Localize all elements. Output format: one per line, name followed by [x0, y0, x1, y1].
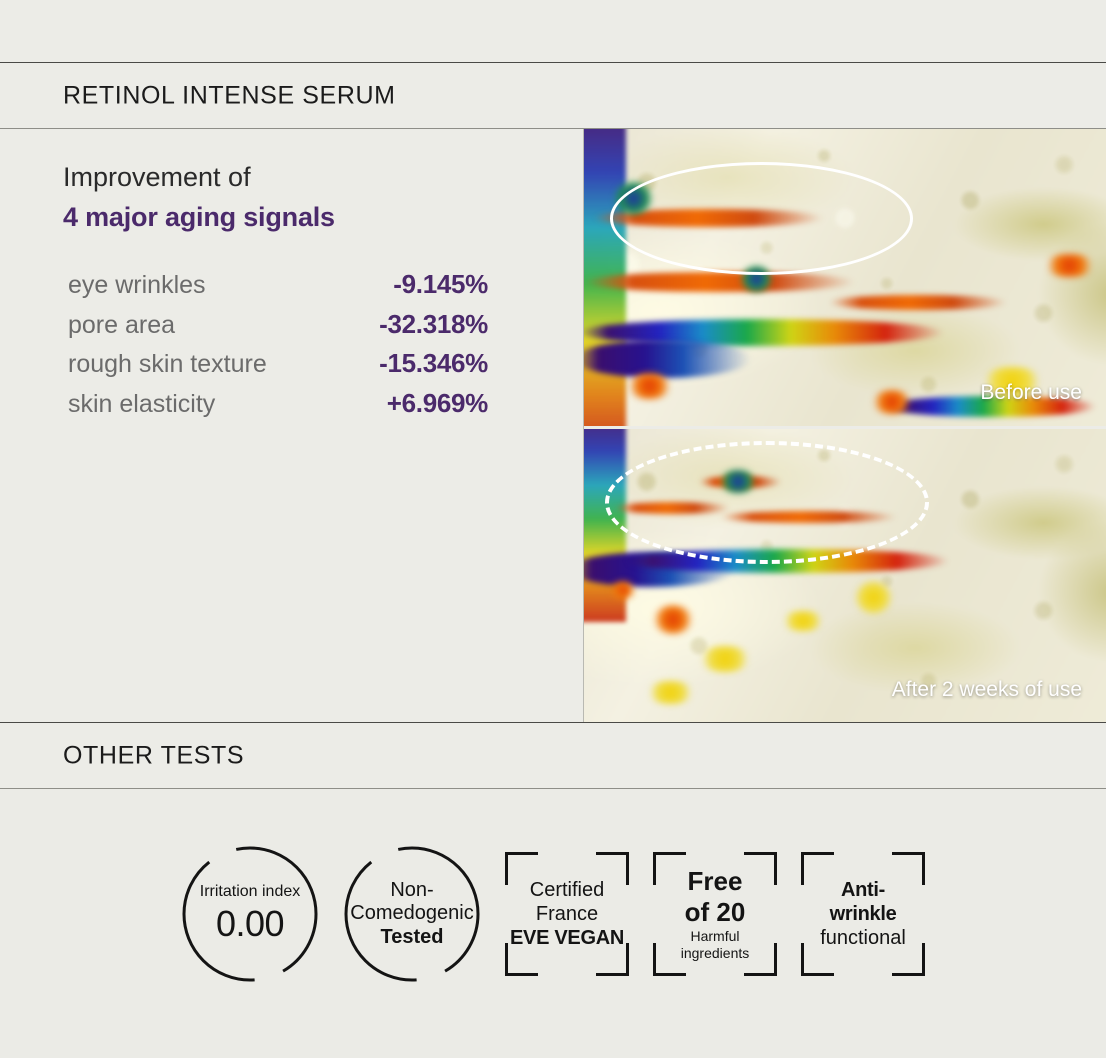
other-tests-title: OTHER TESTS: [63, 741, 244, 770]
before-highlight-ellipse: [610, 162, 913, 275]
lede-line-2: 4 major aging signals: [63, 198, 335, 238]
anti-wrinkle-line-2: wrinkle: [802, 902, 924, 926]
thermal-blob: [871, 390, 913, 414]
metric-row: pore area -32.318%: [68, 309, 488, 349]
badge-irritation-index: Irritation index 0.00: [181, 845, 319, 983]
badge-non-comedogenic: Non- Comedogenic Tested: [343, 845, 481, 983]
before-use-caption: Before use: [980, 381, 1082, 405]
thermal-blob: [855, 581, 892, 613]
after-use-caption: After 2 weeks of use: [892, 678, 1082, 702]
badge-anti-wrinkle: Anti- wrinkle functional: [801, 852, 925, 976]
irritation-index-value: 0.00: [200, 903, 301, 945]
thermal-streak: [584, 272, 855, 293]
lede-line-1: Improvement of: [63, 162, 251, 192]
badge-free-of-20: Free of 20 Harmful ingredients: [653, 852, 777, 976]
certification-badges-row: Irritation index 0.00 Non- Comedogenic T…: [0, 845, 1106, 983]
thermal-blob: [647, 681, 694, 704]
badge-text: Free of 20 Harmful ingredients: [654, 866, 776, 962]
badge-text: Certified France EVE VEGAN: [506, 878, 628, 950]
badge-text: Anti- wrinkle functional: [802, 878, 924, 950]
thermal-blob: [699, 646, 751, 672]
anti-wrinkle-line-1: Anti-: [802, 878, 924, 902]
clinical-results-section: Improvement of 4 major aging signals eye…: [0, 129, 1106, 722]
metric-row: rough skin texture -15.346%: [68, 348, 488, 388]
eve-vegan-line-2: France: [506, 902, 628, 926]
metric-value: -9.145%: [393, 269, 488, 300]
thermal-blob: [782, 611, 824, 632]
non-comedogenic-line-2: Comedogenic: [350, 902, 473, 925]
non-comedogenic-line-1: Non-: [350, 879, 473, 902]
certification-badges-area: Irritation index 0.00 Non- Comedogenic T…: [0, 789, 1106, 1058]
eve-vegan-line-3: EVE VEGAN: [506, 926, 628, 950]
metric-value: -32.318%: [379, 309, 488, 340]
anti-wrinkle-line-3: functional: [802, 926, 924, 950]
free-of-20-line-3: Harmful: [654, 928, 776, 945]
badge-text: Irritation index 0.00: [196, 883, 305, 945]
metric-row: skin elasticity +6.969%: [68, 388, 488, 428]
eve-vegan-line-1: Certified: [506, 878, 628, 902]
irritation-index-label: Irritation index: [200, 883, 301, 902]
other-tests-band: OTHER TESTS: [0, 723, 1106, 788]
badge-text: Non- Comedogenic Tested: [346, 879, 477, 949]
improvement-lede: Improvement of 4 major aging signals: [63, 158, 335, 237]
clinical-text-pane: Improvement of 4 major aging signals eye…: [0, 129, 584, 722]
metric-label: skin elasticity: [68, 390, 215, 419]
metric-value: -15.346%: [379, 348, 488, 379]
top-spacer: [0, 0, 1106, 62]
metrics-list: eye wrinkles -9.145% pore area -32.318% …: [68, 269, 488, 427]
free-of-20-line-1: Free: [654, 866, 776, 897]
metric-row: eye wrinkles -9.145%: [68, 269, 488, 309]
product-title-band: RETINOL INTENSE SERUM: [0, 63, 1106, 128]
thermal-blob: [610, 581, 636, 599]
after-use-image: After 2 weeks of use: [584, 429, 1106, 722]
thermal-blob: [1043, 254, 1095, 278]
badge-eve-vegan: Certified France EVE VEGAN: [505, 852, 629, 976]
before-use-image: Before use: [584, 129, 1106, 426]
thermal-blob: [652, 605, 694, 634]
product-detail-page: RETINOL INTENSE SERUM Improvement of 4 m…: [0, 0, 1106, 1058]
skin-imagery-pane: Before use After 2 weeks o: [584, 129, 1106, 722]
page-title: RETINOL INTENSE SERUM: [63, 81, 396, 110]
non-comedogenic-line-3: Tested: [350, 926, 473, 949]
metric-label: eye wrinkles: [68, 271, 206, 300]
free-of-20-line-2: of 20: [654, 897, 776, 928]
metric-label: pore area: [68, 311, 175, 340]
after-highlight-ellipse: [605, 441, 929, 564]
metric-value: +6.969%: [387, 388, 488, 419]
thermal-blob: [626, 373, 673, 400]
free-of-20-line-4: ingredients: [654, 945, 776, 962]
metric-label: rough skin texture: [68, 350, 267, 379]
